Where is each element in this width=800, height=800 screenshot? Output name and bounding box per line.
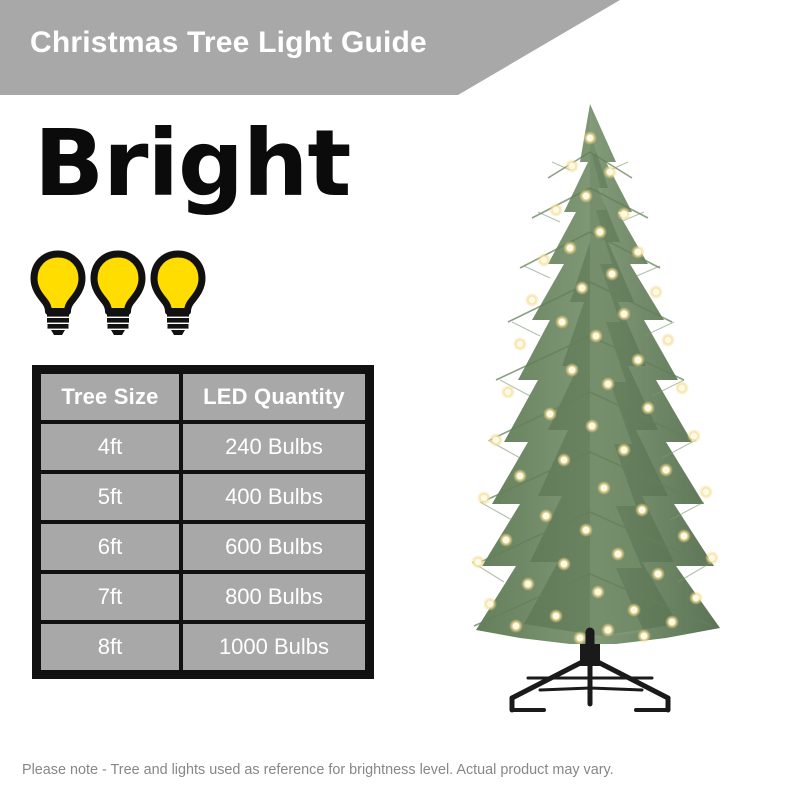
cell-tree-size: 6ft: [41, 524, 179, 570]
cell-tree-size: 5ft: [41, 474, 179, 520]
brightness-bulb-rating: [30, 250, 210, 336]
table-row: 8ft 1000 Bulbs: [41, 624, 365, 670]
christmas-tree-image: [420, 92, 800, 722]
table-row: 4ft 240 Bulbs: [41, 424, 365, 470]
table-header-row: Tree Size LED Quantity: [41, 374, 365, 420]
cell-tree-size: 8ft: [41, 624, 179, 670]
brightness-level-heading: Bright: [34, 118, 350, 210]
cell-led-quantity: 800 Bulbs: [183, 574, 365, 620]
light-guide-infographic: Christmas Tree Light Guide Bright: [0, 0, 800, 800]
cell-tree-size: 7ft: [41, 574, 179, 620]
cell-led-quantity: 600 Bulbs: [183, 524, 365, 570]
column-header-led-quantity: LED Quantity: [183, 374, 365, 420]
tree-foliage: [476, 104, 720, 644]
page-title: Christmas Tree Light Guide: [30, 26, 427, 60]
disclaimer-note: Please note - Tree and lights used as re…: [22, 762, 788, 778]
led-quantity-table: Tree Size LED Quantity 4ft 240 Bulbs 5ft…: [32, 365, 374, 679]
tree-stand: [512, 632, 668, 710]
lightbulb-icon: [30, 250, 86, 336]
table-row: 5ft 400 Bulbs: [41, 474, 365, 520]
column-header-tree-size: Tree Size: [41, 374, 179, 420]
cell-tree-size: 4ft: [41, 424, 179, 470]
lightbulb-icon: [90, 250, 146, 336]
table-row: 6ft 600 Bulbs: [41, 524, 365, 570]
lightbulb-icon: [150, 250, 206, 336]
table-row: 7ft 800 Bulbs: [41, 574, 365, 620]
cell-led-quantity: 400 Bulbs: [183, 474, 365, 520]
cell-led-quantity: 240 Bulbs: [183, 424, 365, 470]
cell-led-quantity: 1000 Bulbs: [183, 624, 365, 670]
